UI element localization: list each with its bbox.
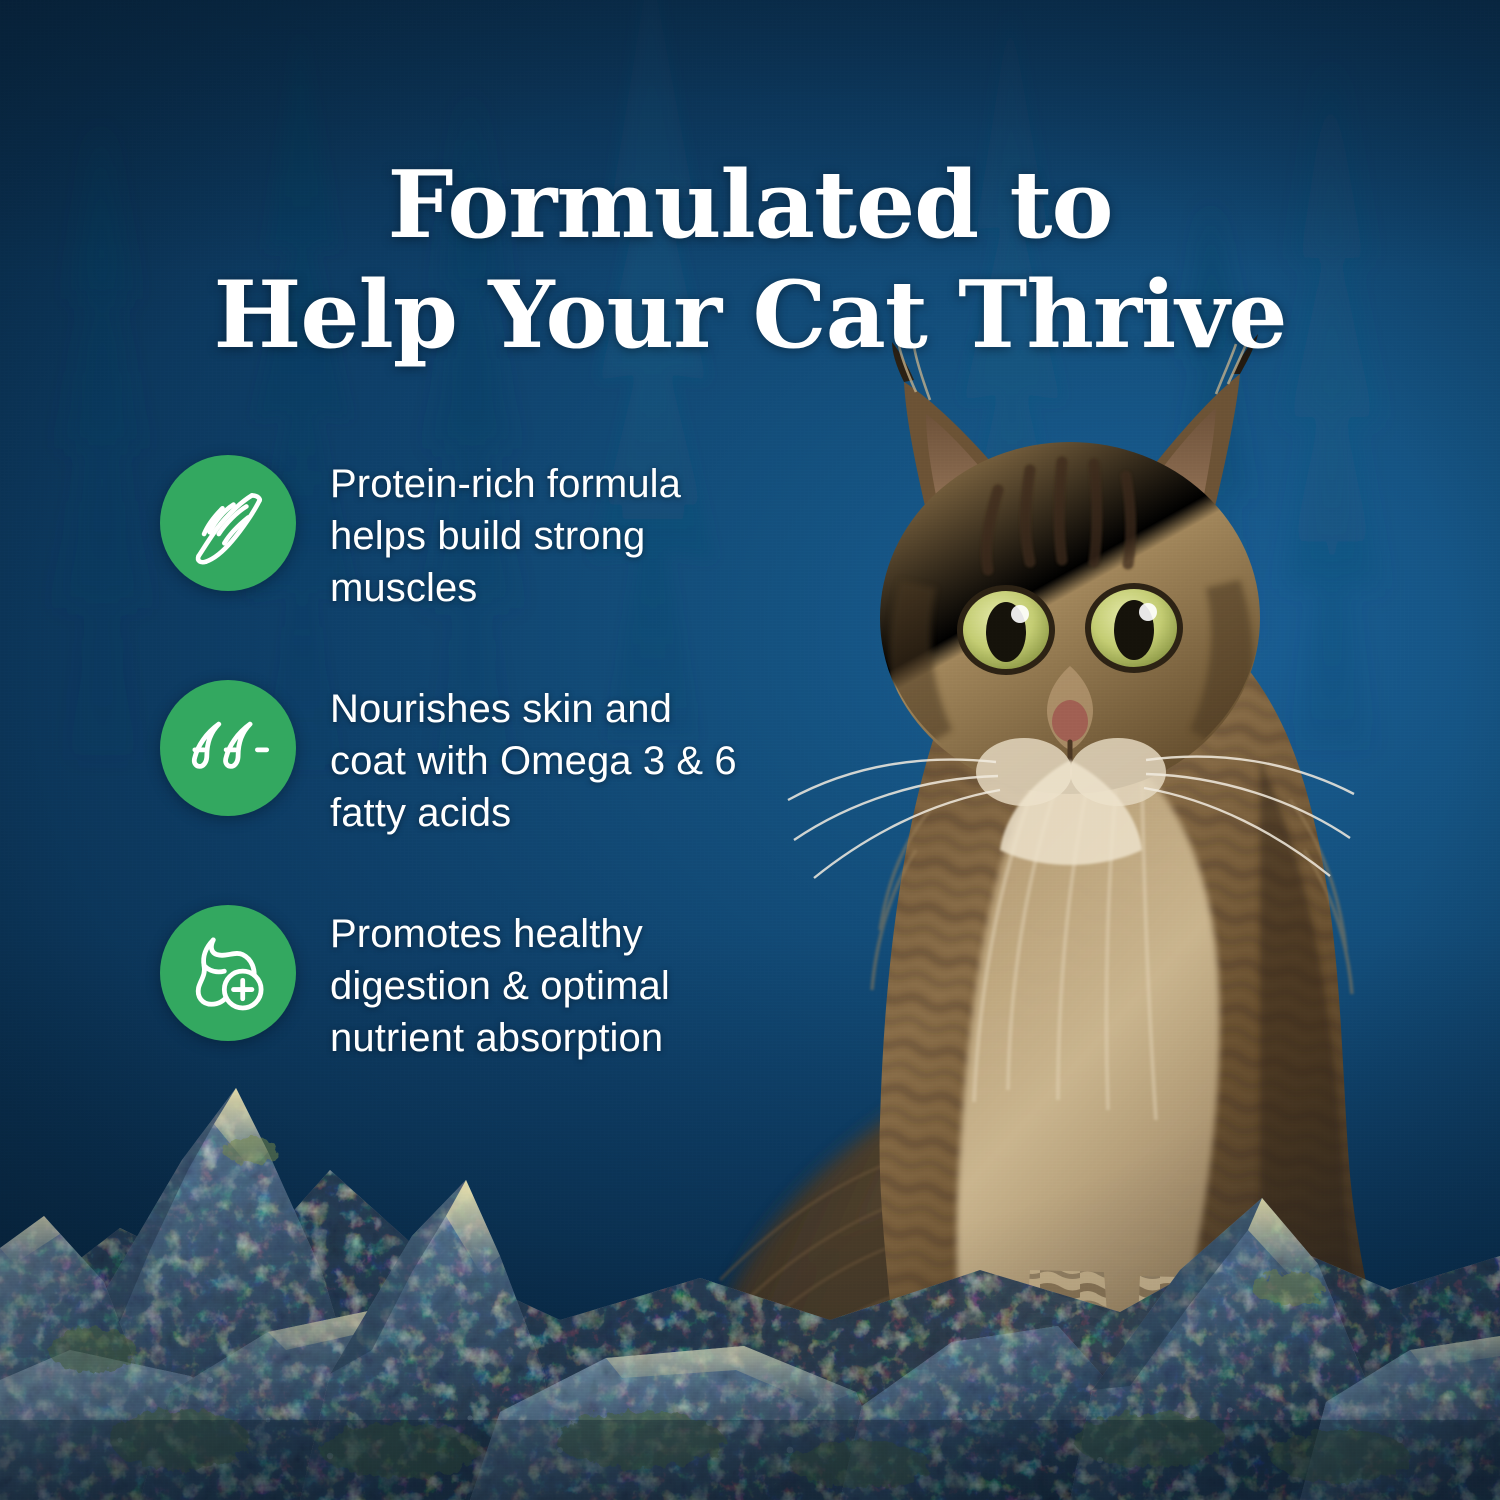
list-item: Nourishes skin and coat with Omega 3 & 6… [160, 680, 800, 839]
stomach-plus-icon [160, 905, 296, 1041]
list-item-label: Protein-rich formula helps build strong … [330, 455, 681, 614]
list-item-label: Promotes healthy digestion & optimal nut… [330, 905, 670, 1064]
list-item: Promotes healthy digestion & optimal nut… [160, 905, 800, 1064]
list-item: Protein-rich formula helps build strong … [160, 455, 800, 614]
page-title: Formulated to Help Your Cat Thrive [0, 150, 1500, 369]
product-feature-banner: Formulated to Help Your Cat Thrive [0, 0, 1500, 1500]
benefit-list: Protein-rich formula helps build strong … [160, 455, 800, 1130]
hair-follicle-icon [160, 680, 296, 816]
muscle-icon [160, 455, 296, 591]
list-item-label: Nourishes skin and coat with Omega 3 & 6… [330, 680, 737, 839]
